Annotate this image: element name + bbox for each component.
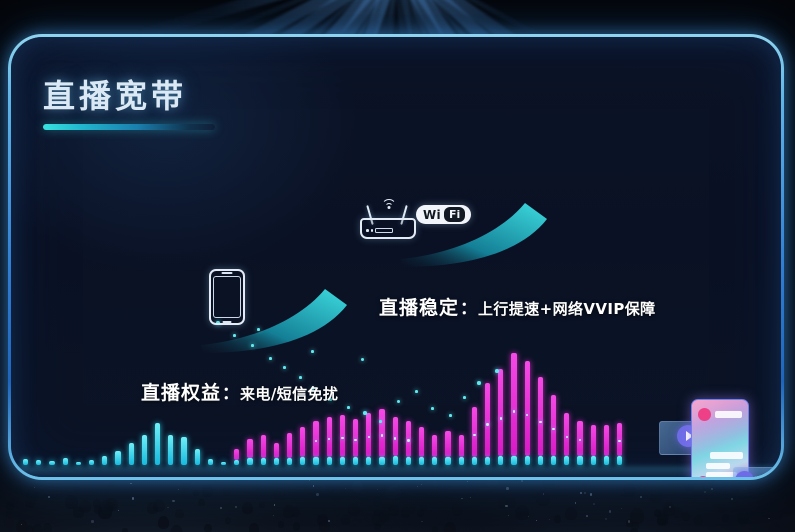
audience-head: [259, 502, 265, 508]
equalizer-bar-low: [234, 460, 239, 465]
audience-head: [321, 486, 326, 492]
equalizer-bar-low: [591, 456, 596, 465]
equalizer-bar-low: [604, 456, 609, 465]
audience-head: [704, 487, 714, 498]
equalizer-bar-low: [63, 458, 68, 465]
audience-light: [220, 507, 222, 509]
equalizer-bar-high: [551, 395, 556, 456]
equalizer-bar-low: [261, 458, 266, 465]
equalizer-bar-low: [313, 457, 318, 465]
audience-head: [663, 502, 675, 515]
equalizer-float-dot: [397, 400, 400, 403]
equalizer-bar-low: [406, 457, 411, 465]
audience-head: [718, 505, 726, 513]
audience-head: [631, 522, 639, 531]
audience-head: [671, 487, 676, 493]
audience-light: [172, 500, 174, 502]
slide-stage: 直播宽带: [0, 0, 795, 532]
equalizer-bar-high: [353, 419, 358, 457]
audience-light: [178, 489, 179, 490]
audience-light: [313, 485, 315, 487]
audience-light: [235, 506, 237, 508]
audience-head: [379, 510, 390, 523]
audience-head: [722, 514, 729, 522]
audience-head: [25, 497, 35, 508]
equalizer-bar-low: [419, 457, 424, 465]
equalizer-bar-low: [221, 462, 226, 465]
caption-colon: ：: [460, 294, 477, 319]
equalizer-bar-high: [300, 427, 305, 457]
equalizer-peak-marker: [341, 437, 343, 439]
audience-head: [249, 523, 259, 532]
equalizer-peak-marker: [500, 417, 502, 419]
equalizer-bar-high: [366, 413, 371, 457]
equalizer-bar-high: [274, 443, 279, 458]
equalizer-float-dot: [477, 381, 481, 385]
equalizer-float-dot: [347, 406, 350, 409]
equalizer-bar-low: [551, 456, 556, 465]
live-stream-phone-mockup: [691, 399, 749, 480]
audience-head: [158, 516, 169, 528]
equalizer-float-dot: [361, 358, 364, 361]
audience-head: [198, 499, 205, 507]
equalizer-peak-marker: [407, 439, 409, 441]
audience-light: [130, 483, 132, 485]
title-underline: [43, 124, 215, 130]
equalizer-bar-high: [327, 417, 332, 457]
equalizer-float-dot: [379, 420, 382, 423]
chat-line-1: [710, 452, 743, 459]
audience-light: [132, 497, 134, 499]
audience-head: [387, 485, 401, 500]
equalizer-bar-low: [23, 459, 28, 465]
audience-light: [580, 492, 582, 494]
audience-head: [21, 480, 31, 491]
equalizer-bar-low: [247, 458, 252, 465]
audience-head: [278, 521, 285, 528]
equalizer-bar-high: [419, 427, 424, 457]
audience-light: [711, 488, 712, 489]
wifi-badge: Wi Fi: [416, 205, 471, 224]
caption-detail: 来电/短信免扰: [240, 383, 338, 404]
title-block: 直播宽带: [43, 79, 215, 130]
audience-light: [508, 515, 510, 517]
audience-head: [332, 489, 342, 500]
audience-head: [751, 488, 760, 498]
audience-light: [731, 498, 733, 500]
audience-head: [348, 503, 360, 517]
audience-head: [682, 512, 690, 521]
audience-head: [204, 524, 211, 532]
audience-light: [586, 515, 588, 517]
equalizer-bar-low: [155, 423, 160, 465]
equalizer-bar-low: [181, 437, 186, 465]
audience-head: [293, 522, 301, 530]
equalizer-peak-marker: [354, 439, 356, 441]
wifi-router-icon: [360, 195, 412, 239]
audience-light: [273, 515, 274, 516]
audience-light: [417, 486, 418, 487]
equalizer-float-dot: [257, 328, 260, 331]
audience-head: [565, 507, 577, 520]
audience-light: [575, 502, 577, 504]
audience-head: [175, 509, 183, 518]
audience-head: [401, 507, 411, 518]
equalizer-bar-high: [564, 413, 569, 456]
caption-live-stability: 直播稳定 ： 上行提速+网络VVIP保障: [379, 293, 656, 320]
equalizer-bar-low: [76, 462, 81, 465]
audience-head: [223, 487, 231, 495]
audience-head: [738, 486, 749, 498]
audience-head: [202, 485, 213, 497]
equalizer-bar-low: [432, 457, 437, 465]
audience-light: [549, 519, 550, 520]
audience-head: [283, 505, 295, 518]
equalizer-peak-marker: [513, 410, 515, 412]
audience-head: [620, 489, 626, 495]
equalizer-bar-low: [485, 457, 490, 465]
audience-head: [452, 504, 462, 515]
audience-light: [609, 510, 611, 512]
equalizer-bar-low: [208, 459, 213, 465]
equalizer-bar-high: [472, 407, 477, 457]
equalizer-bar-high: [445, 431, 450, 457]
audience-light: [584, 492, 586, 494]
audience-head: [32, 524, 42, 532]
equalizer-bar-high: [379, 409, 384, 457]
equalizer-bar-high: [485, 383, 490, 457]
audience-head: [4, 517, 14, 528]
audience-head: [417, 509, 425, 517]
audience-light: [48, 496, 50, 498]
equalizer-bar-low: [168, 435, 173, 465]
audience-light: [593, 503, 595, 505]
audience-head: [692, 483, 704, 496]
audience-head: [98, 504, 112, 519]
audience-head: [242, 502, 253, 514]
equalizer-bar-low: [511, 456, 516, 465]
equalizer-bar-low: [577, 456, 582, 465]
equalizer-bar-high: [234, 449, 239, 460]
equalizer-peak-marker: [381, 434, 383, 436]
audience-head: [73, 483, 81, 491]
audience-light: [461, 498, 462, 499]
audience-light: [506, 487, 509, 490]
audience-head: [737, 511, 748, 523]
equalizer-bar-low: [102, 456, 107, 465]
audience-light: [640, 496, 642, 498]
audience-light: [669, 506, 671, 508]
audience-head: [650, 490, 662, 503]
panel-sheen: [8, 34, 396, 301]
audience-head: [65, 495, 78, 509]
equalizer-float-dot: [463, 396, 466, 399]
equalizer-bar-low: [353, 457, 358, 465]
audience-head: [214, 480, 219, 486]
audience-head: [299, 485, 304, 491]
audience-head: [225, 517, 231, 524]
equalizer-bar-low: [142, 435, 147, 465]
equalizer-bar-high: [498, 369, 503, 456]
audience-head: [787, 521, 795, 531]
equalizer-bar-low: [459, 457, 464, 465]
equalizer-bar-low: [379, 457, 384, 465]
audience-head: [374, 523, 381, 531]
smartphone-icon: [209, 269, 245, 325]
caption-colon: ：: [222, 379, 239, 404]
audience-head: [768, 523, 782, 532]
audience-light: [528, 516, 529, 517]
equalizer-bar-high: [525, 361, 530, 456]
wifi-badge-fi: Fi: [444, 207, 465, 222]
caption-detail: 上行提速+网络VVIP保障: [478, 298, 656, 319]
equalizer-bar-high: [459, 435, 464, 457]
audience-light: [167, 507, 169, 509]
equalizer-bar-high: [287, 433, 292, 458]
equalizer-float-dot: [233, 334, 236, 337]
equalizer-bar-low: [393, 456, 398, 465]
audience-head: [532, 491, 539, 498]
audience-head: [432, 526, 438, 532]
equalizer-peak-marker: [473, 434, 475, 436]
wifi-badge-wi: Wi: [423, 209, 441, 221]
audience-light: [470, 497, 471, 498]
caption-label: 直播权益: [141, 378, 221, 405]
audience-head: [253, 484, 259, 491]
audience-light: [621, 508, 622, 509]
audience-head: [515, 505, 529, 520]
audience-head: [16, 520, 28, 532]
equalizer-float-dot: [269, 357, 272, 360]
equalizer-bar-high: [591, 425, 596, 456]
wifi-wave-icon: [380, 195, 398, 208]
audience-head: [193, 490, 199, 496]
audience-head: [554, 515, 561, 522]
equalizer-bar-low: [49, 461, 54, 465]
equalizer-bar-low: [129, 443, 134, 465]
equalizer-float-dot: [311, 350, 314, 353]
audience-head: [341, 515, 350, 525]
equalizer-peak-marker: [618, 440, 620, 442]
audience-head: [432, 480, 438, 487]
header-line: [715, 411, 742, 418]
page-title: 直播宽带: [43, 79, 215, 114]
audience-light: [421, 484, 422, 485]
equalizer-peak-marker: [486, 423, 488, 425]
audience-light: [274, 504, 275, 505]
equalizer-float-dot: [251, 344, 254, 347]
audience-light: [118, 510, 119, 511]
audience-head: [506, 498, 515, 508]
equalizer-bar-high: [538, 377, 543, 456]
audience-head: [170, 525, 183, 532]
equalizer-bar-low: [525, 456, 530, 465]
equalizer-peak-marker: [566, 436, 568, 438]
equalizer-float-dot: [415, 390, 418, 393]
equalizer-bar-low: [195, 449, 200, 465]
equalizer-bar-low: [340, 457, 345, 466]
audience-head: [6, 501, 14, 510]
audience-light: [590, 493, 592, 495]
audience-head: [122, 528, 128, 532]
equalizer-float-dot: [495, 369, 499, 373]
audience-light: [605, 518, 607, 520]
equalizer-bar-low: [274, 458, 279, 465]
content-frame: 直播宽带: [8, 34, 784, 480]
audience-head: [43, 523, 52, 532]
audience-head: [79, 500, 91, 513]
equalizer-float-dot: [449, 414, 452, 417]
equalizer-bar-low: [538, 456, 543, 465]
audience-head: [582, 479, 589, 487]
audience-head: [359, 491, 368, 501]
equalizer-float-dot: [431, 407, 434, 410]
avatar-top: [698, 408, 711, 421]
equalizer-bar-low: [617, 456, 622, 465]
audience-head: [108, 481, 114, 487]
equalizer-bar-high: [604, 425, 609, 456]
equalizer-bar-low: [472, 457, 477, 465]
equalizer-bar-low: [498, 456, 503, 465]
equalizer-bar-low: [287, 458, 292, 465]
equalizer-floor-glow: [11, 463, 781, 477]
equalizer-bar-low: [564, 456, 569, 465]
equalizer-peak-marker: [539, 421, 541, 423]
audience-head: [694, 515, 703, 525]
equalizer-bar-low: [300, 457, 305, 465]
equalizer-bar-high: [261, 435, 266, 458]
audience-light: [377, 489, 378, 490]
equalizer-bar-low: [89, 460, 94, 465]
audience-head: [444, 522, 456, 532]
chat-line-2: [706, 463, 730, 469]
equalizer-float-dot: [283, 366, 286, 369]
equalizer-bar-high: [432, 435, 437, 457]
equalizer-bar-high: [247, 439, 252, 458]
audience-light: [345, 488, 346, 489]
audience-light: [768, 518, 770, 520]
equalizer-float-dot: [363, 411, 367, 415]
audience-light: [467, 481, 468, 482]
equalizer-bar-low: [445, 457, 450, 465]
audience-head: [373, 498, 381, 507]
audience-light: [328, 520, 330, 522]
caption-live-benefits: 直播权益 ： 来电/短信免扰: [141, 378, 338, 405]
equalizer-bar-low: [115, 451, 120, 465]
audience-light: [536, 520, 537, 521]
audience-light: [91, 520, 93, 522]
caption-label: 直播稳定: [379, 293, 459, 320]
equalizer-bar-high: [511, 353, 516, 456]
audience-head: [147, 502, 157, 513]
equalizer-bar-low: [327, 457, 332, 465]
audience-light: [421, 521, 422, 522]
audience-light: [316, 493, 319, 496]
equalizer-bar-low: [366, 457, 371, 465]
equalizer-bar-high: [340, 415, 345, 457]
